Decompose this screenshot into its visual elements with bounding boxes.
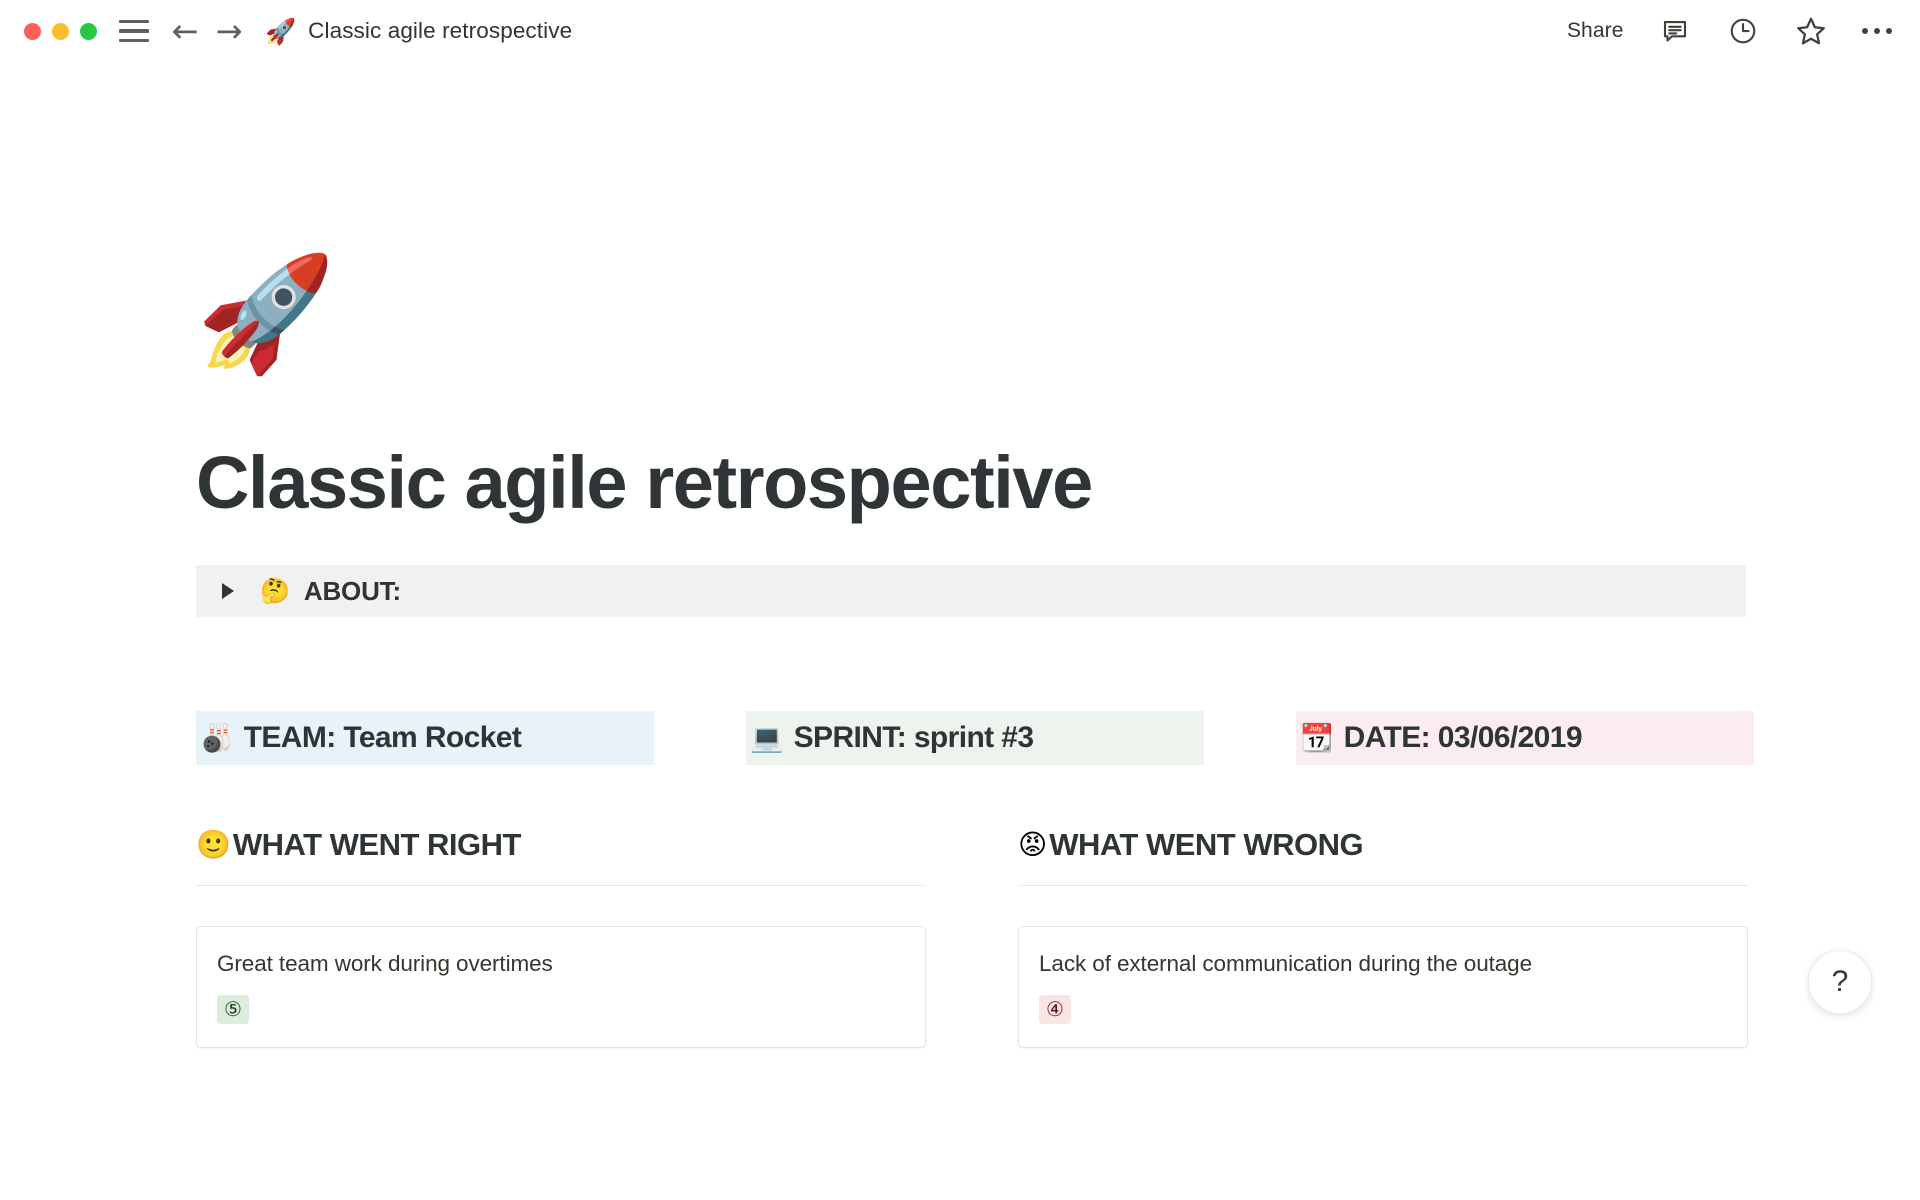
meta-team-text: TEAM: Team Rocket [244, 721, 522, 755]
meta-date[interactable]: 📆 DATE: 03/06/2019 [1296, 711, 1754, 765]
column-heading-went-wrong: 😡 WHAT WENT WRONG [1018, 827, 1748, 886]
breadcrumb-title: Classic agile retrospective [308, 18, 572, 44]
page-title[interactable]: Classic agile retrospective [196, 442, 1746, 523]
retro-card[interactable]: Great team work during overtimes ⑤ [196, 926, 926, 1048]
column-went-wrong: 😡 WHAT WENT WRONG Lack of external commu… [1018, 827, 1748, 1048]
chevron-right-icon[interactable] [222, 583, 234, 599]
dot [1862, 28, 1869, 35]
retro-card-vote-tag[interactable]: ⑤ [217, 995, 249, 1024]
angry-face-icon: 😡 [1018, 831, 1047, 859]
rocket-icon: 🚀 [265, 19, 296, 44]
dot [1874, 28, 1881, 35]
laptop-icon: 💻 [750, 725, 784, 752]
retro-card[interactable]: Lack of external communication during th… [1018, 926, 1748, 1048]
slightly-smiling-face-icon: 🙂 [196, 831, 231, 859]
retro-card-text: Great team work during overtimes [217, 949, 905, 978]
more-options-icon[interactable] [1862, 28, 1893, 35]
meta-sprint[interactable]: 💻 SPRINT: sprint #3 [746, 711, 1204, 765]
page-rocket-icon[interactable]: 🚀 [196, 258, 1746, 390]
clock-history-icon[interactable] [1726, 11, 1760, 51]
hamburger-line [119, 20, 149, 23]
comment-icon[interactable] [1658, 11, 1692, 51]
dot [1886, 28, 1893, 35]
minimize-window-button[interactable] [52, 23, 69, 40]
traffic-lights [24, 23, 97, 40]
meta-date-text: DATE: 03/06/2019 [1344, 721, 1582, 755]
window-titlebar: ← → 🚀 Classic agile retrospective Share [0, 0, 1920, 62]
help-button[interactable]: ? [1808, 950, 1872, 1014]
thinking-face-icon: 🤔 [260, 579, 290, 603]
hamburger-line [119, 29, 149, 32]
hamburger-menu-icon[interactable] [119, 20, 149, 42]
retro-columns: 🙂 WHAT WENT RIGHT Great team work during… [196, 827, 1746, 1048]
column-went-right: 🙂 WHAT WENT RIGHT Great team work during… [196, 827, 926, 1048]
retro-card-text: Lack of external communication during th… [1039, 949, 1727, 978]
close-window-button[interactable] [24, 23, 41, 40]
forward-arrow-icon[interactable]: → [209, 11, 249, 51]
column-heading-text: WHAT WENT RIGHT [233, 827, 521, 863]
document-body: 🚀 Classic agile retrospective 🤔 ABOUT: 🎳… [0, 258, 1920, 1048]
share-button[interactable]: Share [1567, 19, 1624, 43]
bowling-icon: 🎳 [200, 725, 234, 752]
toggle-block-about[interactable]: 🤔 ABOUT: [196, 565, 1746, 617]
retro-card-vote-tag[interactable]: ④ [1039, 995, 1071, 1024]
toolbar-actions: Share [1567, 11, 1892, 51]
back-arrow-icon[interactable]: ← [165, 11, 205, 51]
hamburger-line [119, 39, 149, 42]
calendar-icon: 📆 [1300, 725, 1334, 752]
meta-team[interactable]: 🎳 TEAM: Team Rocket [196, 711, 654, 765]
meta-sprint-text: SPRINT: sprint #3 [794, 721, 1034, 755]
meta-row: 🎳 TEAM: Team Rocket 💻 SPRINT: sprint #3 … [196, 711, 1746, 765]
maximize-window-button[interactable] [80, 23, 97, 40]
star-icon[interactable] [1794, 11, 1828, 51]
column-heading-went-right: 🙂 WHAT WENT RIGHT [196, 827, 926, 886]
toggle-label: ABOUT: [304, 576, 401, 607]
column-heading-text: WHAT WENT WRONG [1049, 827, 1363, 863]
breadcrumb[interactable]: 🚀 Classic agile retrospective [265, 18, 572, 44]
